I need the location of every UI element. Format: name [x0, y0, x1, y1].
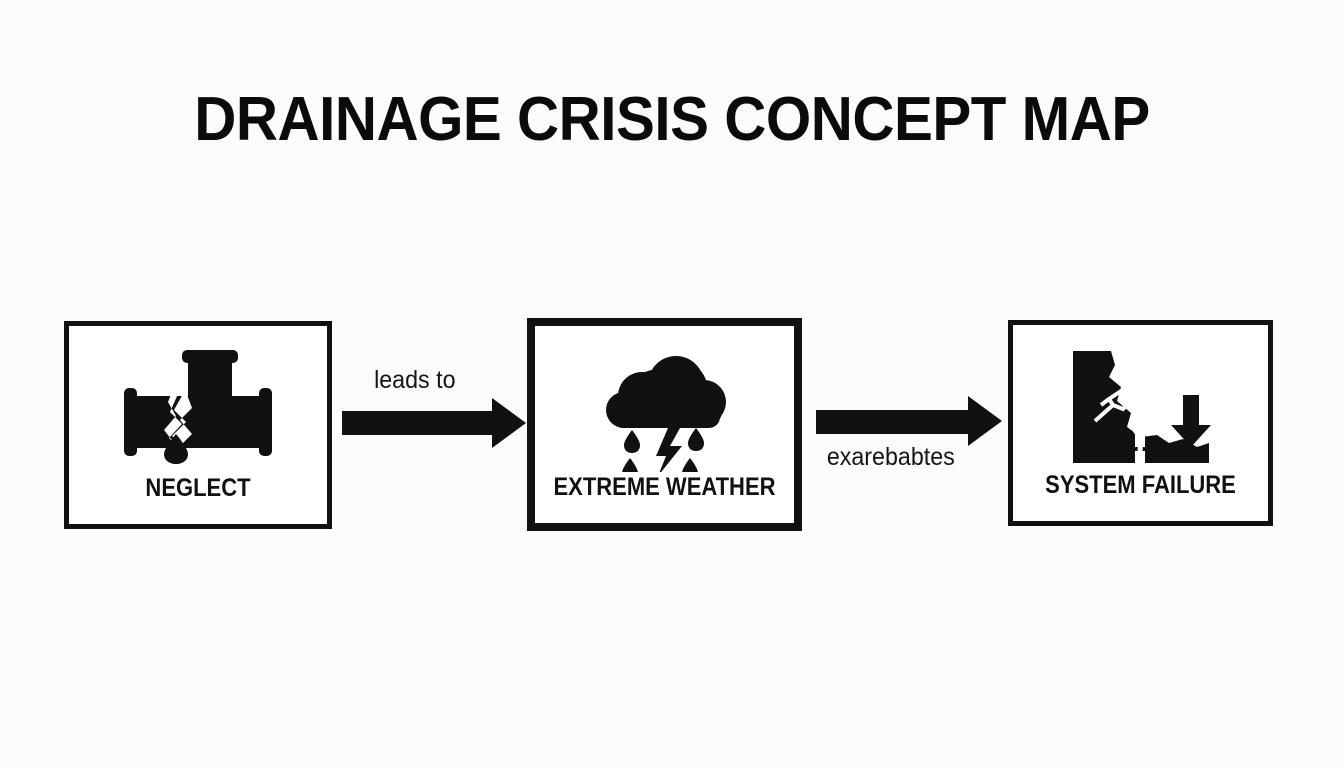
concept-node-label: SYSTEM FAILURE [1028, 471, 1252, 499]
broken-leaking-pipe-icon [114, 344, 282, 479]
concept-node-label: NEGLECT [84, 474, 311, 502]
concept-map-canvas: DRAINAGE CRISIS CONCEPT MAP [0, 0, 1344, 768]
concept-node-extreme-weather[interactable]: EXTREME WEATHER [527, 318, 802, 531]
connector-label-exacerbates: exarebabtes [827, 443, 955, 471]
storm-cloud-rain-lightning-icon [590, 344, 740, 477]
connector-arrow-neglect-to-extreme-weather [342, 398, 526, 453]
concept-node-system-failure[interactable]: SYSTEM FAILURE [1008, 320, 1273, 526]
collapsing-road-landslide-icon [1065, 343, 1217, 476]
connector-label-leads-to: leads to [374, 366, 455, 394]
concept-node-label: EXTREME WEATHER [551, 473, 779, 501]
concept-node-neglect[interactable]: NEGLECT [64, 321, 332, 529]
page-title: DRAINAGE CRISIS CONCEPT MAP [40, 86, 1303, 154]
